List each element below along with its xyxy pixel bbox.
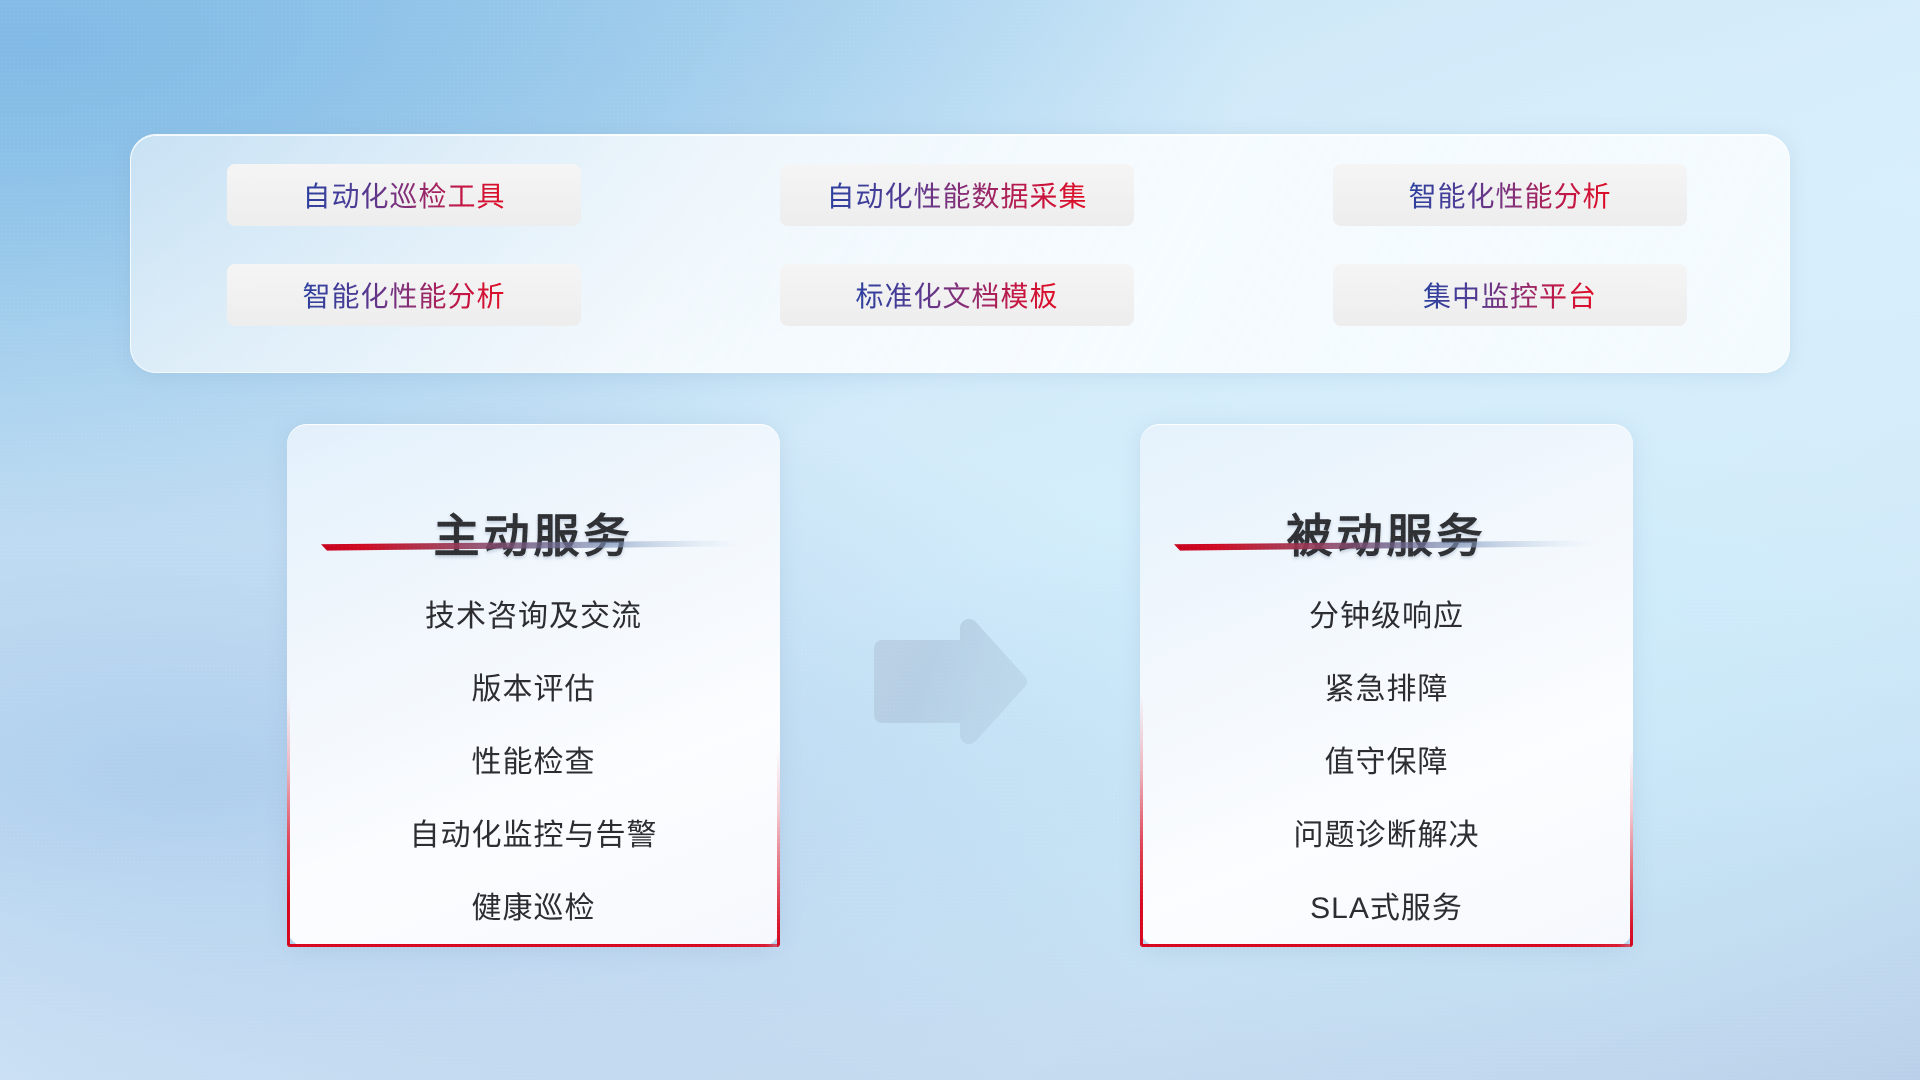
capability-chip[interactable]: 智能化性能分析 [225, 262, 583, 328]
service-list-item: 紧急排障 [1325, 653, 1449, 726]
capability-chip-label: 智能化性能分析 [1408, 175, 1611, 215]
service-list-item: 技术咨询及交流 [425, 580, 642, 653]
service-list-item: 版本评估 [472, 653, 596, 726]
capability-chip[interactable]: 智能化性能分析 [1331, 162, 1689, 228]
service-item-list: 分钟级响应 紧急排障 值守保障 问题诊断解决 SLA式服务 [1140, 580, 1633, 945]
service-list-item: 问题诊断解决 [1294, 799, 1480, 872]
service-list-item: SLA式服务 [1310, 872, 1463, 945]
capability-chip-surface: 自动化巡检工具 [227, 164, 581, 226]
title-divider [321, 540, 745, 551]
service-item-list: 技术咨询及交流 版本评估 性能检查 自动化监控与告警 健康巡检 [287, 580, 780, 945]
capability-chip-label: 集中监控平台 [1423, 275, 1597, 315]
service-card-passive: 被动服务 分钟级响应 紧急排障 [1140, 424, 1633, 947]
capability-chip-label: 智能化性能分析 [302, 275, 505, 315]
service-list-item: 值守保障 [1325, 726, 1449, 799]
capabilities-panel: 自动化巡检工具 自动化性能数据采集 智能化性能分析 智能化性能分析 [130, 134, 1790, 373]
slide-canvas: 自动化巡检工具 自动化性能数据采集 智能化性能分析 智能化性能分析 [0, 0, 1920, 1080]
capability-chip[interactable]: 集中监控平台 [1331, 262, 1689, 328]
arrow-right-icon [868, 618, 1030, 745]
service-card-active: 主动服务 技术咨询及交流 版本评估 [287, 424, 780, 947]
service-list-item: 分钟级响应 [1309, 580, 1464, 653]
capability-chip-surface: 智能化性能分析 [1333, 164, 1687, 226]
capability-chip-grid: 自动化巡检工具 自动化性能数据采集 智能化性能分析 智能化性能分析 [225, 162, 1695, 346]
capability-chip-label: 自动化巡检工具 [302, 175, 505, 215]
capability-chip[interactable]: 自动化巡检工具 [225, 162, 583, 228]
service-list-item: 性能检查 [472, 726, 596, 799]
service-card-title: 主动服务 [287, 500, 780, 566]
capability-chip-label: 自动化性能数据采集 [826, 175, 1087, 215]
capability-chip[interactable]: 自动化性能数据采集 [778, 162, 1136, 228]
service-list-item: 自动化监控与告警 [410, 799, 658, 872]
capability-chip[interactable]: 标准化文档模板 [778, 262, 1136, 328]
service-list-item: 健康巡检 [472, 872, 596, 945]
title-divider [1174, 540, 1598, 551]
capability-chip-surface: 智能化性能分析 [227, 264, 581, 326]
service-card-title: 被动服务 [1140, 500, 1633, 566]
capability-chip-surface: 标准化文档模板 [780, 264, 1134, 326]
capability-chip-label: 标准化文档模板 [855, 275, 1058, 315]
capability-chip-surface: 集中监控平台 [1333, 264, 1687, 326]
capability-chip-surface: 自动化性能数据采集 [780, 164, 1134, 226]
